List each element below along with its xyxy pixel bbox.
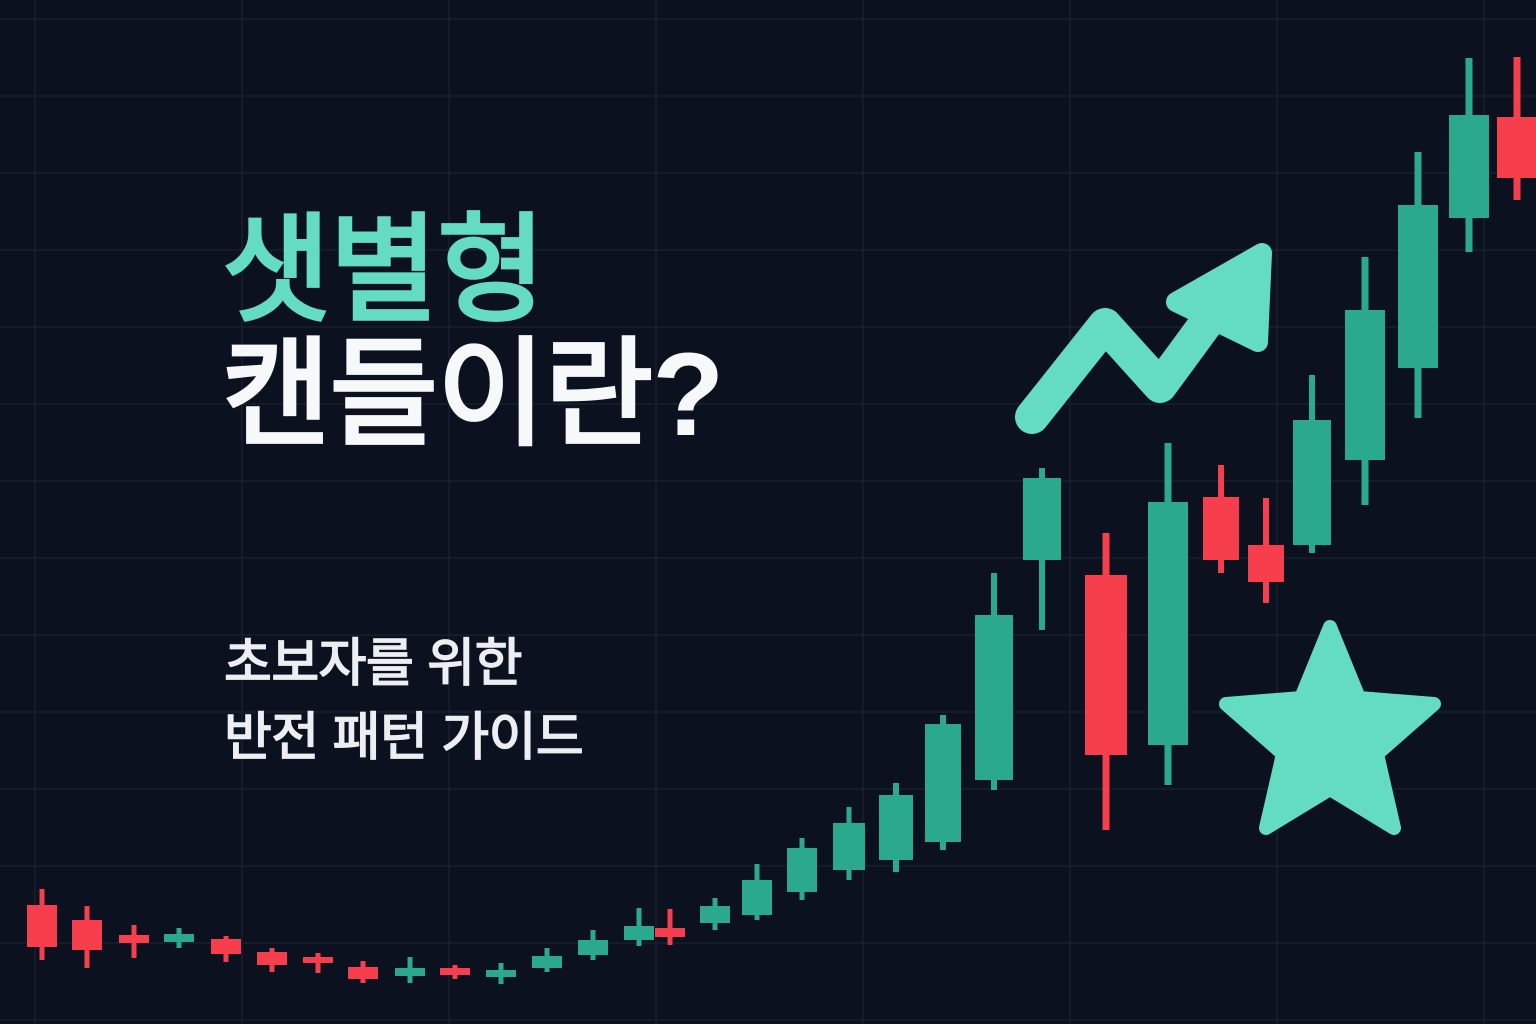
title-accent-line: 샛별형 (222, 212, 723, 330)
title-main-line: 캔들이란? (222, 336, 723, 454)
subtitle-line-1: 초보자를 위한 (224, 628, 583, 702)
page-subtitle: 초보자를 위한 반전 패턴 가이드 (224, 628, 583, 776)
page-title: 샛별형 캔들이란? (222, 212, 723, 460)
subtitle-line-2: 반전 패턴 가이드 (224, 702, 583, 776)
poster-canvas: 샛별형 캔들이란? 초보자를 위한 반전 패턴 가이드 (0, 0, 1536, 1024)
